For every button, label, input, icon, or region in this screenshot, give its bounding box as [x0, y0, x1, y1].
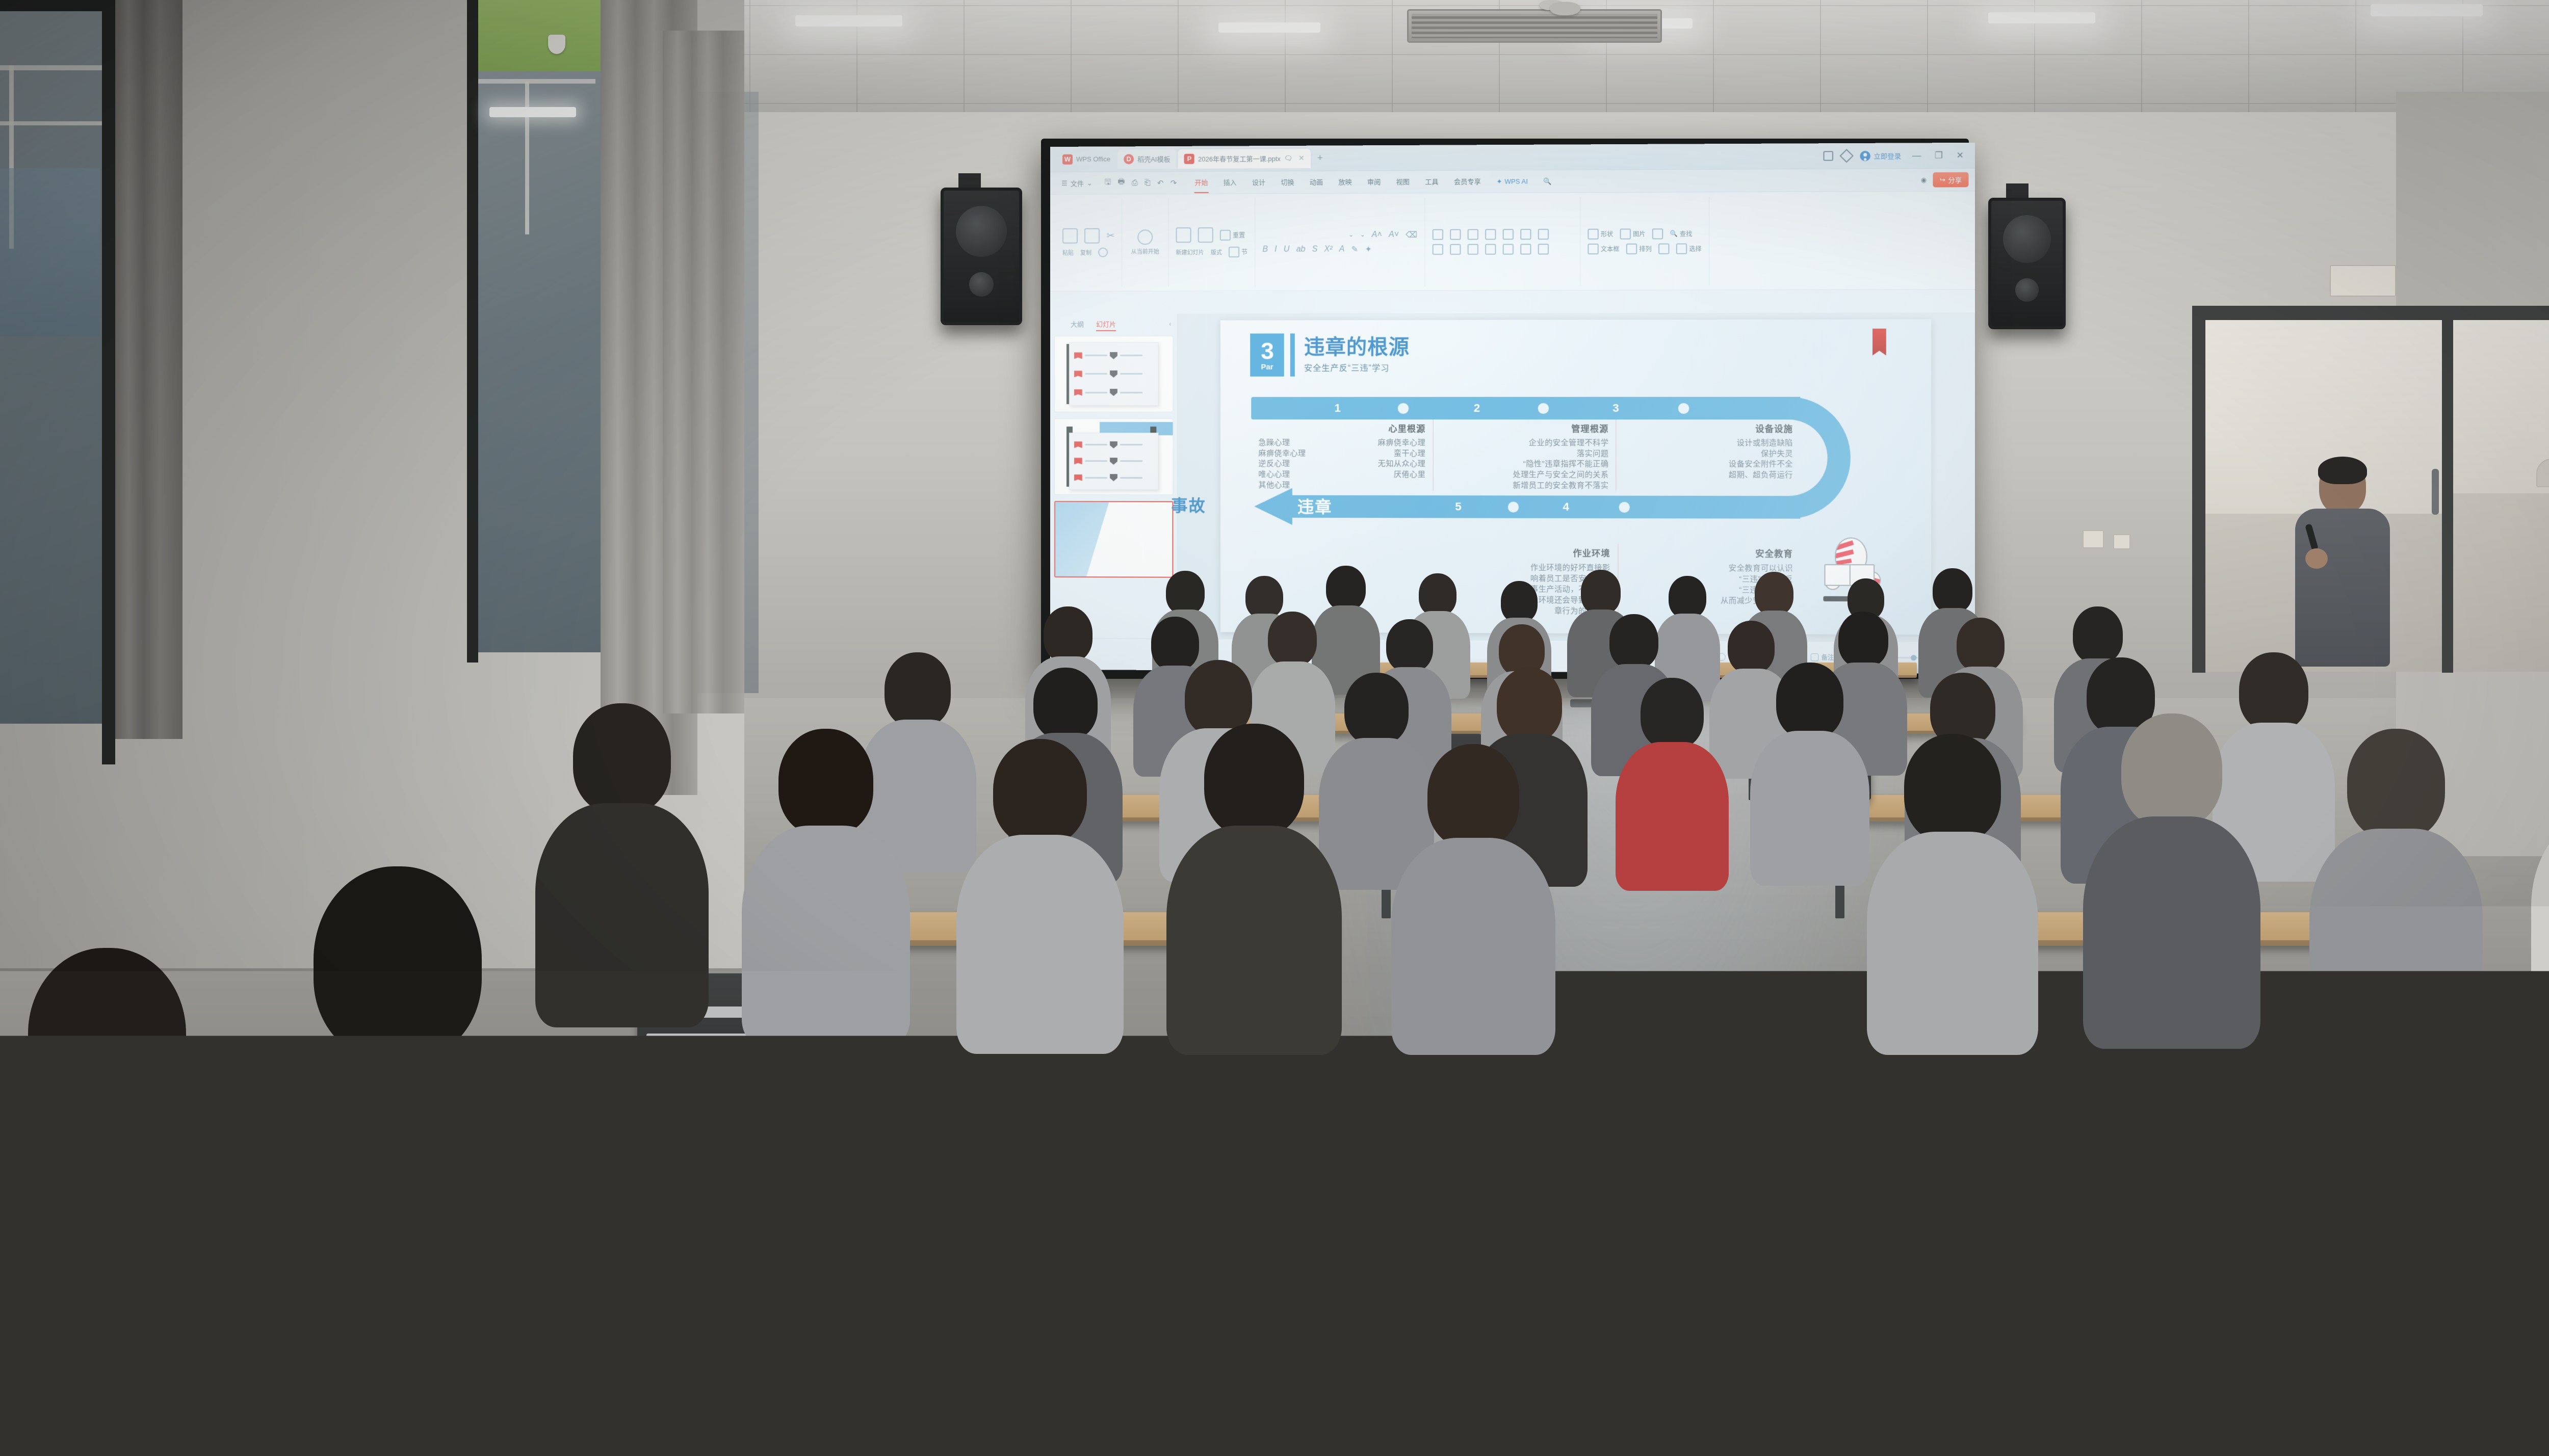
- label-accident: 事故: [1171, 493, 1206, 516]
- minimize-button[interactable]: —: [1910, 150, 1924, 161]
- ribbon-tab-member[interactable]: 会员专享: [1446, 174, 1489, 190]
- distribute-icon[interactable]: [1503, 244, 1514, 254]
- step-1-right-2: 蛮干心理: [1394, 448, 1425, 459]
- bold-icon[interactable]: B: [1262, 245, 1268, 254]
- titlebar-spacer: [1328, 156, 1824, 158]
- head: [573, 703, 671, 814]
- increase-indent-icon[interactable]: [1485, 229, 1496, 240]
- arrange-label: 排列: [1639, 244, 1652, 253]
- thumb-card: [1069, 433, 1159, 490]
- step-number-5: 5: [1455, 500, 1461, 513]
- door-post-left: [2192, 306, 2205, 673]
- head: [1501, 581, 1538, 623]
- track-dot-1: [1398, 403, 1409, 414]
- clipboard-row-bottom: 粘贴 复制: [1062, 248, 1114, 257]
- login-button[interactable]: 立即登录: [1860, 150, 1901, 161]
- chair-slat: [868, 1223, 1043, 1237]
- head: [1427, 744, 1519, 848]
- step-column-1: 心里根源 急躁心理 麻痹侥幸心理 麻痹侥幸心理 蛮干心理: [1251, 419, 1433, 491]
- powerpoint-icon: P: [1184, 153, 1194, 164]
- head: [1609, 614, 1658, 669]
- ceiling-light-6: [1988, 12, 2095, 23]
- head: [1641, 678, 1704, 749]
- thumb-accent-shape: [1055, 502, 1109, 576]
- wall-outlet-2: [2113, 534, 2130, 549]
- head: [1344, 673, 1409, 745]
- tab-comment-icon[interactable]: 🗨: [1284, 154, 1293, 162]
- audience-member-foreground: [2233, 989, 2447, 1456]
- slide-title-block: 3 Par 违章的根源 安全生产反“三违”学习: [1250, 333, 1410, 377]
- print-icon[interactable]: 🖶: [1117, 176, 1125, 189]
- share-arrow-icon: ↪: [1940, 176, 1945, 184]
- audience-member: [755, 729, 897, 1040]
- track-dot-3: [1678, 403, 1689, 414]
- step-1-left-3: 逆反心理: [1258, 459, 1290, 470]
- thumb-card: [1069, 342, 1159, 406]
- textbox-button[interactable]: 文本框: [1588, 243, 1619, 254]
- step-1-line-3: 逆反心理 无知从众心理: [1258, 459, 1425, 470]
- step-1-right-3: 无知从众心理: [1378, 459, 1426, 470]
- top-step-columns: 心里根源 急躁心理 麻痹侥幸心理 麻痹侥幸心理 蛮干心理: [1251, 419, 1800, 491]
- door-frame: [2192, 306, 2549, 320]
- strikethrough-icon[interactable]: ab: [1296, 245, 1306, 254]
- body: [956, 835, 1124, 1054]
- thumb-line: [1085, 355, 1107, 356]
- step-1-left-5: 其他心理: [1258, 480, 1290, 491]
- shield-icon: [1110, 352, 1117, 359]
- print-preview-icon[interactable]: ⎗: [1145, 178, 1151, 187]
- step-2-line-5: 新增员工的安全教育不落实: [1441, 481, 1609, 491]
- head: [1033, 668, 1098, 740]
- notes-icon: [1811, 653, 1818, 661]
- shield-icon: [1110, 458, 1117, 465]
- slide-thumbnail-selected[interactable]: [1054, 501, 1173, 578]
- ai-sparkle-icon: ✦: [1496, 174, 1502, 189]
- app-tab-wps-office[interactable]: W WPS Office: [1055, 151, 1117, 168]
- slides-row-bottom: 新建幻灯片 版式 节: [1176, 247, 1247, 257]
- head: [314, 866, 482, 1060]
- window-wall-left: [0, 0, 540, 795]
- smartart-icon[interactable]: [1538, 229, 1549, 240]
- menubar-right: ◉ ↪ 分享: [1920, 172, 1968, 188]
- new-tab-button[interactable]: +: [1312, 152, 1328, 164]
- step-1-line-5: 其他心理: [1258, 480, 1425, 491]
- step-1-left-4: 唯心心理: [1258, 469, 1290, 480]
- tab-outline[interactable]: 大纲: [1071, 319, 1084, 329]
- eye-preview-icon[interactable]: ◉: [1920, 176, 1927, 184]
- thumb-row: [1074, 370, 1154, 378]
- titlebar-right-controls: 立即登录 — ❐ ✕: [1824, 150, 1970, 162]
- wps-ai-label: WPS AI: [1504, 174, 1528, 189]
- head: [1769, 1142, 1912, 1294]
- body: [0, 1107, 260, 1456]
- body: [1391, 838, 1555, 1055]
- slides-row-top: 重置: [1176, 227, 1247, 243]
- projector-mount: [1550, 2, 1580, 15]
- ribbon-tab-tools[interactable]: 工具: [1417, 174, 1446, 189]
- text-direction-icon[interactable]: [1503, 229, 1514, 240]
- thumb-row: [1074, 458, 1154, 465]
- audience-member-foreground: [0, 948, 214, 1456]
- head: [993, 739, 1087, 845]
- part-number: 3: [1261, 339, 1273, 362]
- align-objects-icon[interactable]: [1658, 243, 1669, 254]
- part-word: Par: [1261, 363, 1273, 371]
- step-1-line-2: 麻痹侥幸心理 蛮干心理: [1258, 448, 1425, 459]
- body: [535, 803, 709, 1027]
- thumb-line: [1085, 477, 1107, 479]
- login-label: 立即登录: [1874, 151, 1902, 161]
- text-effect-icon[interactable]: ✦: [1365, 244, 1372, 254]
- part-badge: 3 Par: [1250, 333, 1284, 376]
- find-label: 查找: [1680, 229, 1693, 238]
- picture-button[interactable]: 图片: [1620, 228, 1646, 239]
- exterior-lamp: [548, 35, 565, 54]
- step-number-1: 1: [1335, 402, 1341, 415]
- ribbon-toolbar: ✂ 粘贴 复制 从当前开始: [1050, 191, 1975, 292]
- undo-icon[interactable]: ↶: [1157, 178, 1164, 188]
- window-mullion-1: [102, 0, 115, 764]
- font-family-selector[interactable]: ⌄: [1349, 231, 1354, 238]
- select-label: 选择: [1689, 244, 1702, 253]
- step-3-line-3: 设备安全附件不全: [1624, 459, 1793, 470]
- close-button[interactable]: ✕: [1954, 150, 1966, 161]
- slide-thumbnail[interactable]: [1054, 418, 1173, 495]
- paragraph-row-top: [1433, 228, 1573, 240]
- thumb-line: [1085, 460, 1107, 462]
- tab-slides[interactable]: 幻灯片: [1096, 319, 1116, 329]
- speaker-tweeter-left: [969, 272, 994, 297]
- columns-icon[interactable]: [1538, 244, 1549, 254]
- body: [1867, 832, 2038, 1055]
- file-menu-label: 文件: [1071, 178, 1084, 188]
- head: [885, 652, 951, 728]
- exterior-blue-panel: [0, 168, 100, 336]
- shield-icon: [1110, 441, 1117, 448]
- thumb-line: [1120, 477, 1142, 479]
- track-top-bar: [1251, 397, 1800, 420]
- ceiling-air-vent: [1407, 9, 1662, 43]
- align-center-icon[interactable]: [1450, 244, 1461, 254]
- format-painter-icon[interactable]: [1098, 248, 1108, 257]
- share-button[interactable]: ↪ 分享: [1933, 172, 1968, 188]
- step-1-right-4: 厌倦心里: [1394, 470, 1425, 481]
- wps-ai-button[interactable]: ✦ WPS AI: [1489, 174, 1536, 190]
- document-tab-active[interactable]: P 2026年春节复工第一课.pptx 🗨 ✕: [1178, 148, 1311, 168]
- textbox-label: 文本框: [1601, 244, 1620, 253]
- section-label: 节: [1241, 248, 1247, 256]
- step-2-line-4: 处理生产与安全之间的关系: [1441, 470, 1609, 481]
- section-button[interactable]: 节: [1229, 247, 1247, 257]
- body: [240, 1040, 556, 1456]
- step-column-2: 管理根源 企业的安全管理不科学 落实问题 “隐性”违章指挥不能正确 处理生产与安…: [1433, 419, 1616, 491]
- ribbon-menubar: ☰ 文件 ⌄ 🖫 🖶 ⎙ ⎗ ↶ ↷ 开始 插入 设计 切换 动: [1050, 169, 1975, 195]
- head: [28, 948, 186, 1126]
- body: [1750, 731, 1869, 886]
- thumb-row: [1074, 474, 1154, 481]
- app-tab-docer-label: 稻壳AI模板: [1137, 154, 1171, 164]
- step-1-line-4: 唯心心理 厌倦心里: [1258, 469, 1425, 480]
- presenter-hair: [2318, 457, 2367, 484]
- align-left-icon[interactable]: [1433, 244, 1443, 254]
- head: [2121, 713, 2222, 828]
- shape-icon: [1588, 228, 1598, 239]
- app-tab-docer[interactable]: D 稻壳AI模板: [1117, 149, 1177, 169]
- highlight-icon[interactable]: ✎: [1351, 244, 1359, 254]
- clear-format-icon[interactable]: ⌫: [1406, 229, 1417, 240]
- curtain-left-3: [663, 31, 744, 713]
- audience-member: [1621, 678, 1723, 887]
- step-heading-5: 作业环境: [1444, 546, 1610, 559]
- picture-icon: [1620, 228, 1631, 239]
- justify-icon[interactable]: [1485, 244, 1496, 254]
- numbered-list-icon[interactable]: [1450, 229, 1461, 240]
- ribbon-tab-insert[interactable]: 插入: [1216, 175, 1244, 190]
- ribbon-tab-design[interactable]: 设计: [1244, 175, 1273, 190]
- head: [1268, 612, 1317, 667]
- ribbon-badge-icon: [1074, 474, 1082, 481]
- ribbon-group-insert: 形状 图片 🔍 查找: [1580, 196, 1709, 285]
- play-slideshow-icon: [1137, 229, 1153, 245]
- textbox-icon: [1588, 243, 1598, 254]
- find-button[interactable]: 🔍 查找: [1670, 229, 1692, 238]
- window-split-icon[interactable]: [1824, 151, 1834, 161]
- superscript-icon[interactable]: X²: [1324, 245, 1332, 254]
- ceiling-light-3: [795, 15, 902, 27]
- slide-thumbnail[interactable]: [1054, 336, 1173, 412]
- underline-icon[interactable]: U: [1284, 245, 1290, 254]
- start-from-current-button[interactable]: 从当前开始: [1129, 229, 1161, 255]
- export-pdf-icon[interactable]: ⎙: [1132, 178, 1138, 187]
- head: [2239, 652, 2308, 731]
- slide-subtitle: 安全生产反“三违”学习: [1304, 361, 1410, 373]
- hamburger-icon: ☰: [1061, 179, 1068, 187]
- shield-icon: [1110, 389, 1117, 396]
- scaffold-pipe-v2: [525, 82, 529, 234]
- thumb-row: [1074, 441, 1154, 448]
- save-icon[interactable]: 🖫: [1105, 177, 1111, 190]
- file-menu-button[interactable]: ☰ 文件 ⌄: [1056, 178, 1098, 188]
- ribbon-tab-slideshow[interactable]: 放映: [1331, 174, 1360, 190]
- step-2-line-1: 企业的安全管理不科学: [1441, 438, 1609, 448]
- layout-icon[interactable]: [1198, 227, 1213, 243]
- speaker-left: [941, 188, 1022, 325]
- ribbon-tab-start[interactable]: 开始: [1187, 175, 1215, 190]
- ribbon-badge-icon: [1074, 352, 1082, 359]
- bullet-list-icon[interactable]: [1433, 229, 1443, 240]
- font-size-selector[interactable]: ⌄: [1360, 231, 1365, 238]
- thumb-line: [1120, 373, 1142, 375]
- find-icon: 🔍: [1670, 230, 1677, 237]
- chair: [856, 1147, 1055, 1269]
- shadow-icon[interactable]: S: [1312, 245, 1318, 254]
- head: [1044, 606, 1093, 663]
- head: [1957, 618, 2005, 672]
- thumb-row: [1074, 352, 1154, 359]
- ribbon-tab-view[interactable]: 视图: [1389, 174, 1418, 190]
- scaffold-pipe-h1: [0, 65, 102, 70]
- thumb-line: [1120, 444, 1142, 445]
- ribbon-badge-icon: [1074, 458, 1082, 464]
- slide-title: 违章的根源: [1304, 336, 1410, 358]
- maximize-button[interactable]: ❐: [1932, 150, 1945, 161]
- new-slide-icon[interactable]: [1176, 227, 1191, 243]
- wall-control-box: [2330, 265, 2396, 297]
- reset-button[interactable]: 重置: [1220, 229, 1245, 240]
- head: [2264, 989, 2416, 1162]
- head: [1419, 573, 1456, 616]
- step-number-4: 4: [1563, 500, 1569, 514]
- track-dot-5: [1508, 501, 1519, 512]
- thumb-line: [1120, 392, 1142, 393]
- head: [2073, 606, 2123, 664]
- window-mullion-2: [467, 0, 478, 663]
- ribbon-group-font: ⌄ ⌄ A˄ A˅ ⌫ B I U ab S X² A ✎: [1255, 197, 1425, 286]
- ribbon-tab-review[interactable]: 审阅: [1360, 174, 1389, 190]
- head: [1776, 663, 1843, 739]
- head: [1386, 619, 1433, 672]
- ribbon-tab-transition[interactable]: 切换: [1273, 175, 1302, 190]
- insert-row-bottom: 文本框 排列 选择: [1588, 243, 1701, 254]
- ribbon-badge-icon: [1074, 441, 1082, 448]
- speaker-cone-left: [956, 206, 1007, 257]
- thumb-line: [1120, 355, 1142, 356]
- cube-3d-icon[interactable]: [1840, 149, 1854, 163]
- step-3-line-2: 保护失灵: [1624, 448, 1793, 459]
- ribbon-tab-animation[interactable]: 动画: [1302, 174, 1331, 190]
- section-icon: [1229, 247, 1239, 257]
- training-room-photo: W WPS Office D 稻壳AI模板 P 2026年春节复工第一课.ppt…: [0, 0, 2549, 1456]
- thumb-line: [1085, 392, 1107, 393]
- collapse-pane-icon[interactable]: ‹: [1169, 320, 1177, 328]
- step-3-line-1: 设计或制造缺陷: [1624, 438, 1793, 449]
- label-violation: 违章: [1297, 494, 1333, 518]
- track-dot-2: [1538, 403, 1549, 414]
- step-3-line-4: 超期、超负荷运行: [1624, 470, 1793, 481]
- paste-icon[interactable]: [1062, 228, 1078, 244]
- title-text-block: 违章的根源 安全生产反“三违”学习: [1301, 333, 1410, 377]
- arrange-icon: [1626, 243, 1637, 254]
- shield-icon: [1110, 370, 1117, 378]
- quick-access-toolbar: 🖫 🖶 ⎙ ⎗ ↶ ↷: [1098, 176, 1184, 190]
- thumb-line: [1085, 373, 1107, 375]
- step-1-left-1: 急躁心理: [1258, 438, 1290, 448]
- decrease-indent-icon[interactable]: [1468, 229, 1478, 240]
- line-spacing-icon[interactable]: [1520, 244, 1531, 254]
- scaffold-pipe-h3: [478, 79, 595, 84]
- head: [1166, 571, 1205, 615]
- increase-font-icon[interactable]: A˄: [1372, 230, 1382, 240]
- head: [2347, 729, 2445, 840]
- select-icon: [1676, 243, 1687, 254]
- ribbon-badge-icon: [1074, 370, 1082, 377]
- ceiling-light-4: [1218, 22, 1320, 33]
- arrange-button[interactable]: 排列: [1626, 243, 1652, 254]
- door-handle[interactable]: [2432, 469, 2439, 515]
- head: [1904, 734, 2001, 843]
- window-frame-top: [0, 0, 117, 11]
- reset-label: 重置: [1233, 230, 1245, 239]
- thumbnail-pane-tabs: 大纲 幻灯片 ‹: [1050, 314, 1177, 333]
- ribbon-group-paragraph: [1425, 197, 1580, 286]
- audience-member: [1183, 724, 1325, 1050]
- italic-icon[interactable]: I: [1274, 245, 1277, 254]
- ribbon-group-slideshow: 从当前开始: [1122, 198, 1168, 287]
- start-from-current-label: 从当前开始: [1131, 247, 1159, 255]
- tab-close-icon[interactable]: ✕: [1298, 154, 1305, 163]
- thumb-row: [1074, 389, 1154, 396]
- step-heading-2: 管理根源: [1441, 421, 1609, 434]
- body: [1166, 826, 1342, 1055]
- audience-member-foreground: [1733, 1142, 1947, 1456]
- insert-object-icon[interactable]: [1652, 228, 1663, 239]
- presenter: [2284, 459, 2401, 673]
- head: [1755, 572, 1793, 616]
- audience-member: [551, 703, 693, 1019]
- head: [1581, 570, 1621, 615]
- cut-icon[interactable]: ✂: [1106, 230, 1114, 242]
- door-post-mid: [2442, 306, 2453, 673]
- title-accent-bar: [1290, 333, 1295, 376]
- red-flag-decoration: [1872, 329, 1886, 356]
- share-label: 分享: [1948, 175, 1962, 184]
- search-icon[interactable]: 🔍: [1536, 174, 1559, 189]
- copy-icon[interactable]: [1084, 228, 1100, 244]
- window-pane-1: [0, 0, 110, 724]
- head: [1497, 668, 1562, 742]
- step-heading-1: 心里根源: [1258, 421, 1425, 434]
- app-tab-label: WPS Office: [1076, 155, 1110, 163]
- curtain-left-1: [115, 0, 183, 739]
- body: [1616, 742, 1729, 891]
- step-1-left-2: 麻痹侥幸心理: [1258, 448, 1306, 459]
- step-heading-4: 安全教育: [1625, 546, 1793, 560]
- align-text-icon[interactable]: [1520, 229, 1531, 240]
- audience-member: [1759, 663, 1861, 882]
- document-tab-label: 2026年春节复工第一课.pptx: [1198, 153, 1281, 164]
- layout-label: 版式: [1211, 248, 1222, 256]
- font-color-icon[interactable]: A: [1339, 245, 1345, 254]
- align-right-icon[interactable]: [1468, 244, 1478, 254]
- audience-member: [1881, 734, 2024, 1050]
- select-button[interactable]: 选择: [1676, 243, 1702, 254]
- head: [778, 729, 873, 836]
- insert-row-top: 形状 图片 🔍 查找: [1588, 228, 1701, 240]
- thumb-line: [1120, 460, 1142, 462]
- body: [2192, 1144, 2488, 1456]
- audience-member: [2100, 713, 2243, 1045]
- reset-icon: [1220, 229, 1231, 240]
- step-number-2: 2: [1474, 402, 1480, 415]
- scaffold-pipe-h2: [0, 121, 102, 125]
- step-1-right-1: 麻痹侥幸心理: [1378, 438, 1426, 448]
- copy-label: 复制: [1080, 248, 1091, 256]
- chair-slat: [868, 1188, 1043, 1203]
- shape-button[interactable]: 形状: [1588, 228, 1613, 239]
- font-row-bottom: B I U ab S X² A ✎ ✦: [1262, 244, 1417, 254]
- redo-icon[interactable]: ↷: [1171, 178, 1177, 188]
- track-arrow-head: [1254, 488, 1292, 525]
- head: [1204, 724, 1304, 837]
- decrease-font-icon[interactable]: A˅: [1389, 230, 1399, 239]
- picture-label: 图片: [1633, 229, 1645, 238]
- paste-label: 粘贴: [1062, 248, 1074, 256]
- paragraph-row-bottom: [1433, 244, 1573, 255]
- track-dot-4: [1619, 502, 1630, 513]
- clipboard-row-top: ✂: [1062, 228, 1114, 244]
- user-avatar-icon: [1860, 150, 1871, 161]
- step-2-line-2: 落实问题: [1441, 448, 1609, 459]
